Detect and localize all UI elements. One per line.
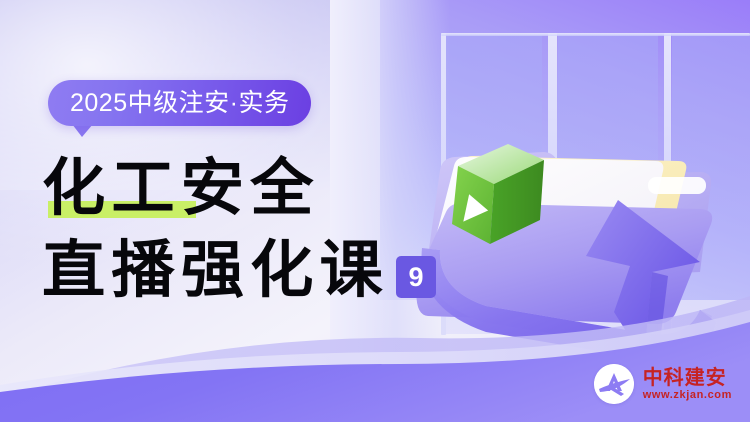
headline-row-2: 直播强化课 9: [42, 230, 436, 302]
folder-tab-slot: [648, 177, 706, 194]
headline-row-1: 化工安全: [42, 148, 436, 220]
background-pane-top-rail: [441, 33, 750, 36]
headline-line-2: 直播强化课: [42, 240, 389, 302]
zkjan-circle-logo-icon: [594, 364, 634, 404]
brand-logo-text: 中科建安 www.zkjan.com: [643, 368, 732, 401]
episode-number: 9: [409, 264, 424, 291]
course-tag-pill[interactable]: 2025中级注安·实务: [48, 80, 311, 126]
course-illustration: [400, 60, 750, 390]
headline-line-1: 化工安全: [42, 158, 319, 220]
course-tag-label: 2025中级注安·实务: [70, 91, 289, 116]
course-banner: 2025中级注安·实务 化工安全 直播强化课 9 中科建安 www.zkjan.…: [0, 0, 750, 422]
brand-url: www.zkjan.com: [643, 390, 732, 401]
brand-logo[interactable]: 中科建安 www.zkjan.com: [594, 364, 732, 404]
episode-badge: 9: [396, 256, 436, 298]
headline-block: 化工安全 直播强化课 9: [42, 148, 436, 302]
brand-name: 中科建安: [643, 368, 732, 388]
